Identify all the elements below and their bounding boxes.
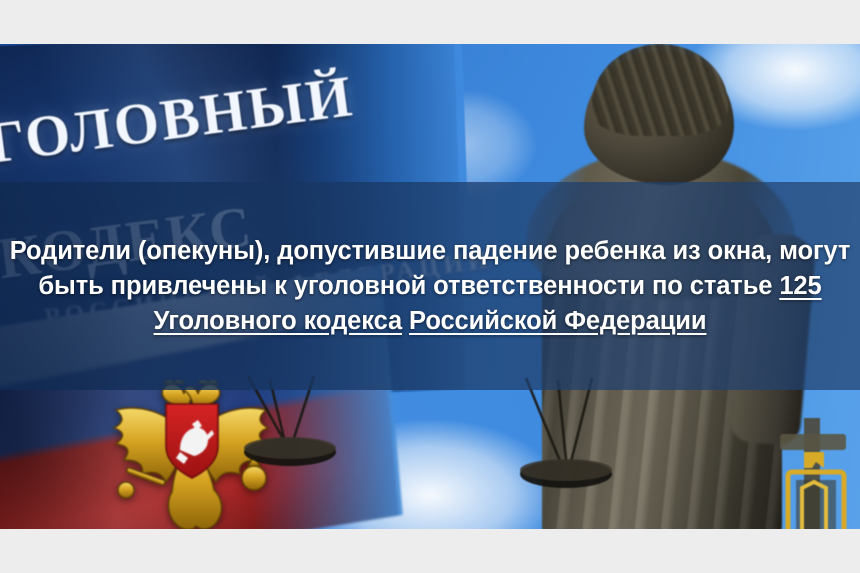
caption-line-3-plain: ответственности по статье	[433, 272, 779, 300]
caption-line-1: Родители (опекуны), допустившие падение …	[10, 237, 666, 265]
banner-image: УГОЛОВНЫЙ КОДЕКС РОССИЙСКОЙ ФЕДЕРАЦИИ	[0, 44, 860, 529]
statue-hair	[592, 44, 728, 136]
caption-text: Родители (опекуны), допустившие падение …	[1, 234, 859, 339]
page-root: УГОЛОВНЫЙ КОДЕКС РОССИЙСКОЙ ФЕДЕРАЦИИ	[0, 0, 860, 573]
scales-of-justice-icon	[240, 374, 660, 529]
gold-staff-emblem-icon	[774, 418, 854, 529]
caption-article-link-part-2: Российской Федерации	[409, 307, 706, 335]
caption-overlay-band: Родители (опекуны), допустившие падение …	[0, 182, 860, 390]
